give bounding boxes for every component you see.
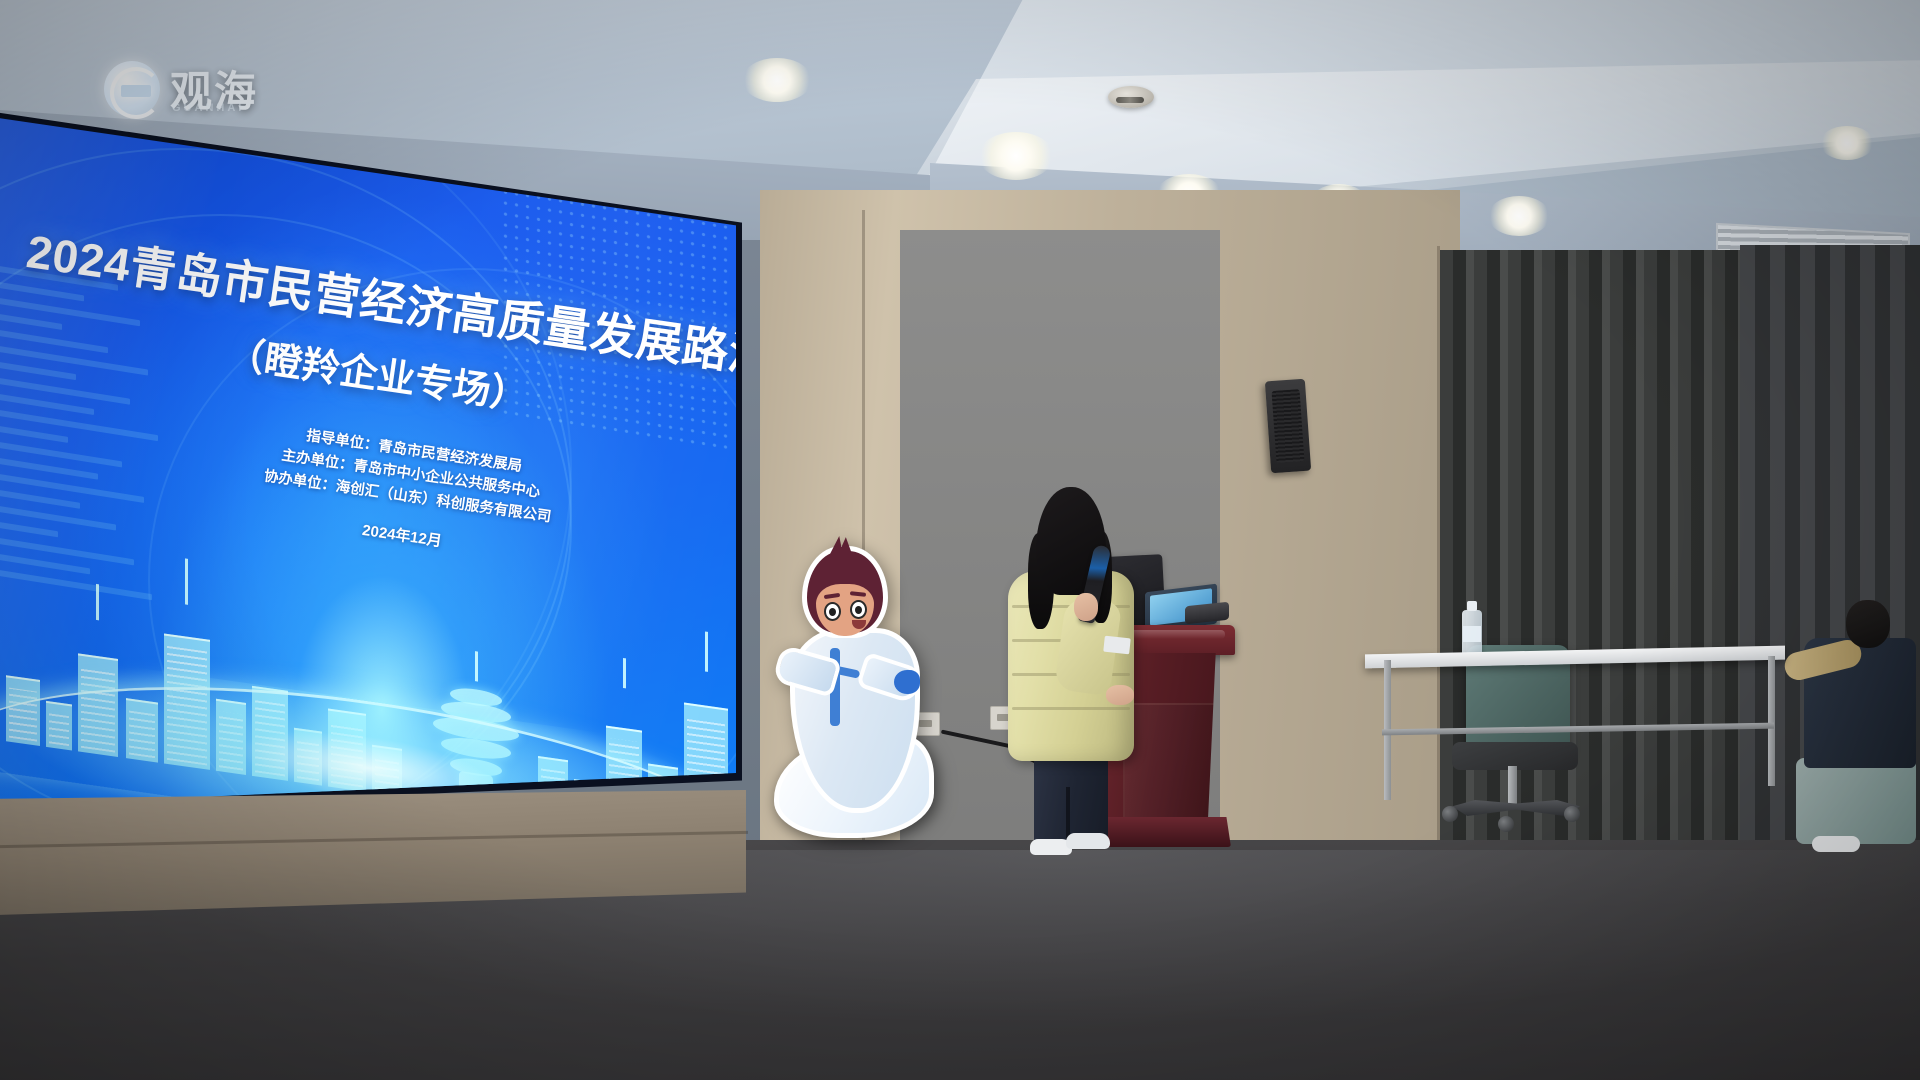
building-spire: [623, 658, 626, 688]
speaker-hand: [1074, 593, 1098, 621]
building-spire: [96, 584, 99, 620]
mascot-standee: [768, 540, 928, 830]
watermark-subtext: GUANHAI: [172, 102, 244, 114]
chair-caster: [1564, 806, 1580, 822]
mascot-cutout: [768, 540, 928, 830]
mascot-eye: [824, 602, 841, 621]
building-spire: [705, 632, 708, 672]
watermark-logo: 观海 GUANHAI: [104, 58, 258, 119]
speaker-badge: [1103, 636, 1131, 655]
speaker-person: [1008, 487, 1138, 847]
speaker-hand: [1106, 685, 1134, 705]
seated-person-head: [1846, 600, 1890, 648]
building-spire: [185, 558, 188, 604]
speaker-shoe: [1066, 833, 1110, 849]
slide-credits: 指导单位：青岛市民营经济发展局 主办单位：青岛市中小企业公共服务中心 协办单位：…: [143, 403, 673, 584]
chair-caster: [1442, 806, 1458, 822]
downlight-icon: [978, 132, 1054, 180]
conference-room-photo: 2024青岛市民营经济高质量发展路演 （瞪羚企业专场） 指导单位：青岛市民营经济…: [0, 0, 1920, 1080]
table-leg: [1768, 656, 1775, 786]
chair-caster: [1498, 816, 1514, 832]
mascot-glove: [894, 670, 920, 694]
seated-person-shoe: [1812, 836, 1860, 852]
downlight-icon: [1488, 196, 1550, 236]
downlight-icon: [1820, 126, 1874, 160]
chair-post: [1508, 766, 1517, 808]
stage-curtain: [1440, 250, 1760, 890]
led-display-screen[interactable]: 2024青岛市民营经济高质量发展路演 （瞪羚企业专场） 指导单位：青岛市民营经济…: [0, 118, 736, 806]
seated-person-lap: [1796, 758, 1916, 844]
water-bottle[interactable]: [1462, 610, 1482, 658]
guanhai-logo-icon: [104, 61, 160, 117]
smoke-detector-icon: [1108, 86, 1154, 108]
downlight-icon: [742, 58, 812, 102]
wall-speaker: [1265, 379, 1311, 474]
mascot-eye: [850, 600, 867, 619]
seated-person: [1790, 600, 1920, 850]
